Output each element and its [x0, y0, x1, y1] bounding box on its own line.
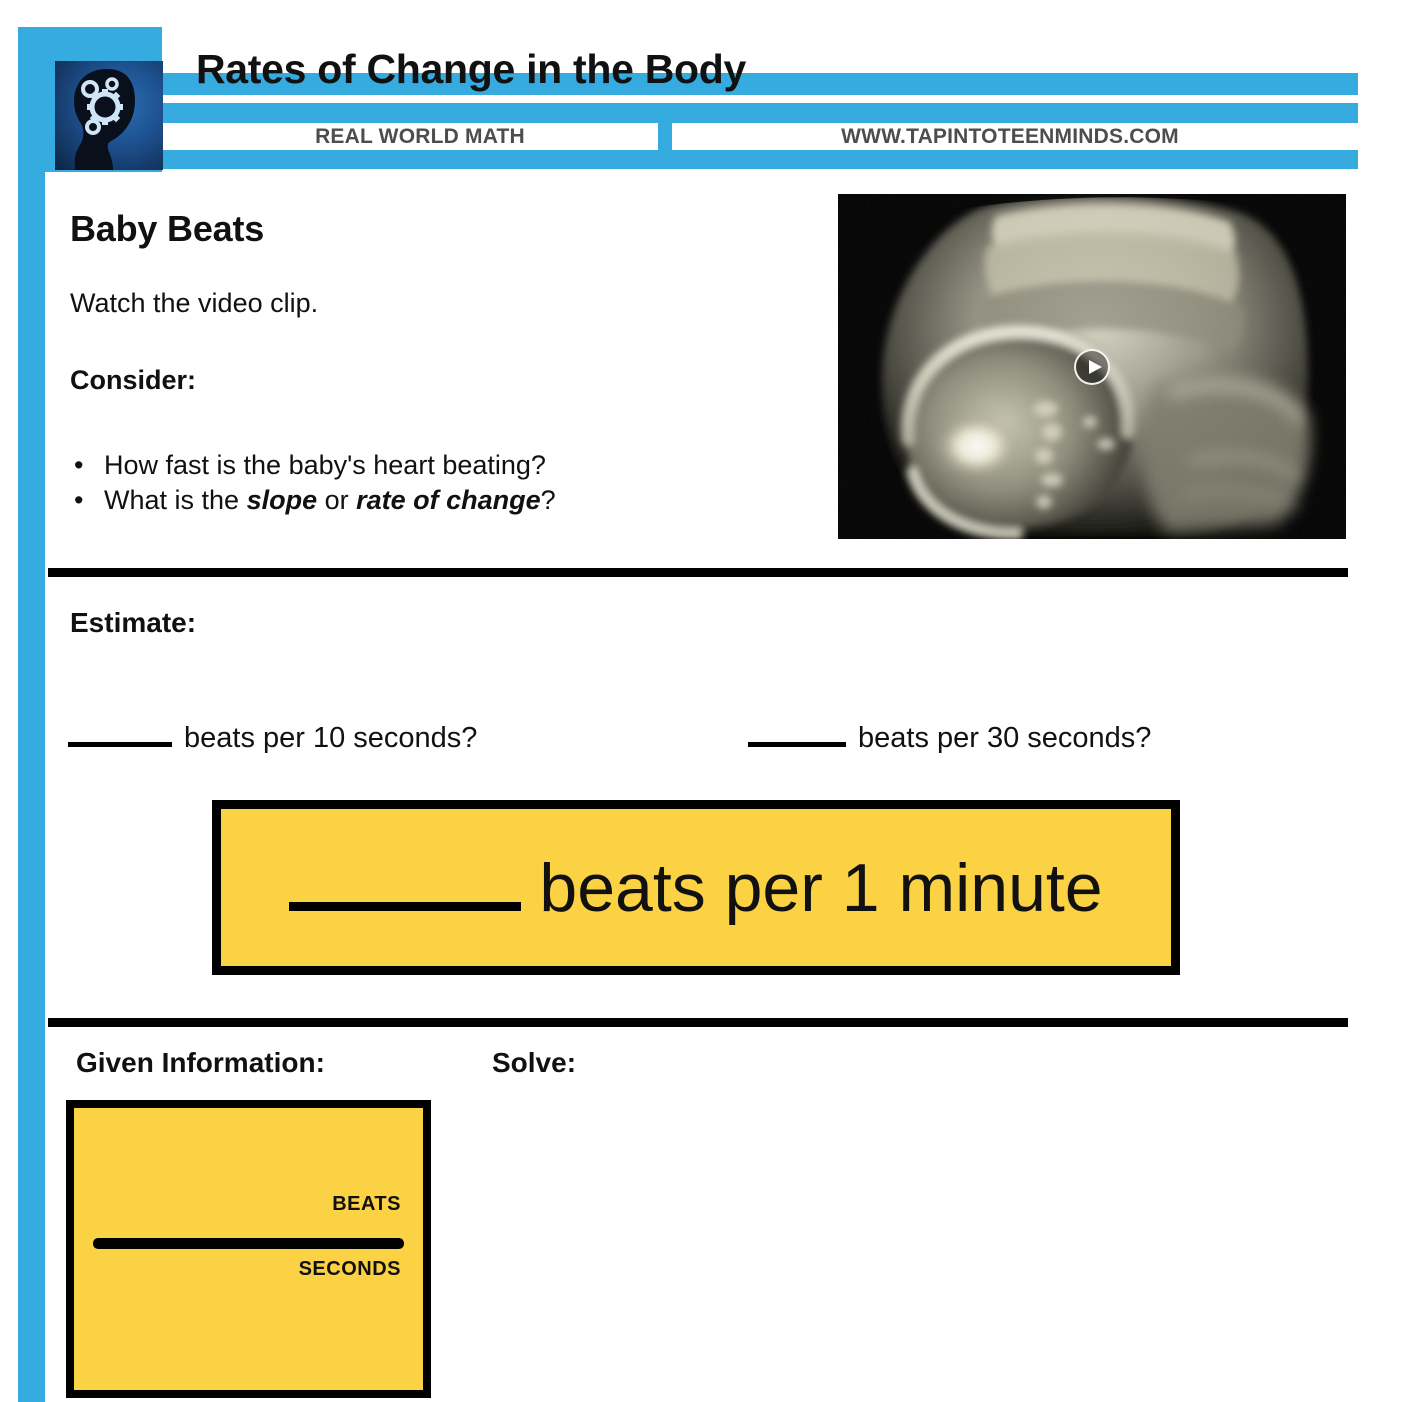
header-gap-plate — [162, 95, 1402, 103]
list-item: How fast is the baby's heart beating? — [104, 448, 556, 483]
solve-label: Solve: — [492, 1047, 576, 1079]
consider-item-1-emphasis-slope: slope — [247, 485, 318, 515]
answer-blank-30s[interactable] — [748, 742, 846, 747]
estimate-question-10s-label: beats per 10 seconds? — [184, 722, 477, 754]
header-website-url: WWW.TAPINTOTEENMINDS.COM — [690, 123, 1330, 150]
estimate-question-30s-label: beats per 30 seconds? — [858, 722, 1151, 754]
highlight-answer-text: beats per 1 minute — [289, 854, 1102, 922]
consider-item-1-prefix: What is the — [104, 485, 247, 515]
lesson-heading: Baby Beats — [70, 208, 264, 250]
fraction-numerator-label: BEATS — [332, 1193, 401, 1216]
fraction-bar — [93, 1238, 404, 1249]
consider-item-1-suffix: ? — [541, 485, 556, 515]
lesson-instruction: Watch the video clip. — [70, 288, 318, 319]
brain-gears-head-icon — [69, 67, 147, 170]
consider-item-0-text: How fast is the baby's heart beating? — [104, 450, 546, 480]
highlight-answer-label: beats per 1 minute — [539, 850, 1102, 926]
page-title: Rates of Change in the Body — [196, 46, 746, 93]
play-triangle-icon — [1089, 360, 1102, 374]
estimate-question-30s: beats per 30 seconds? — [748, 722, 1151, 755]
brand-logo — [55, 61, 163, 170]
fraction-denominator-label: SECONDS — [299, 1258, 401, 1281]
consider-item-1-mid: or — [317, 485, 356, 515]
section-divider — [48, 1018, 1348, 1027]
highlight-answer-box: beats per 1 minute — [212, 800, 1180, 975]
logo-block — [18, 27, 162, 172]
left-accent-rail — [18, 172, 45, 1402]
consider-item-1-emphasis-rate: rate of change — [356, 485, 541, 515]
list-item: What is the slope or rate of change? — [104, 483, 556, 518]
answer-blank-10s[interactable] — [68, 742, 172, 747]
play-icon[interactable] — [1074, 349, 1110, 385]
section-divider — [48, 568, 1348, 577]
given-information-label: Given Information: — [76, 1047, 325, 1079]
given-information-box[interactable]: BEATS SECONDS — [66, 1100, 431, 1398]
video-thumbnail[interactable] — [838, 194, 1346, 539]
consider-label: Consider: — [70, 365, 196, 396]
estimate-question-10s: beats per 10 seconds? — [68, 722, 477, 755]
estimate-label: Estimate: — [70, 607, 196, 639]
answer-blank-1min[interactable] — [289, 902, 521, 911]
header-tagline: REAL WORLD MATH — [180, 123, 660, 150]
consider-list: How fast is the baby's heart beating? Wh… — [68, 448, 556, 517]
